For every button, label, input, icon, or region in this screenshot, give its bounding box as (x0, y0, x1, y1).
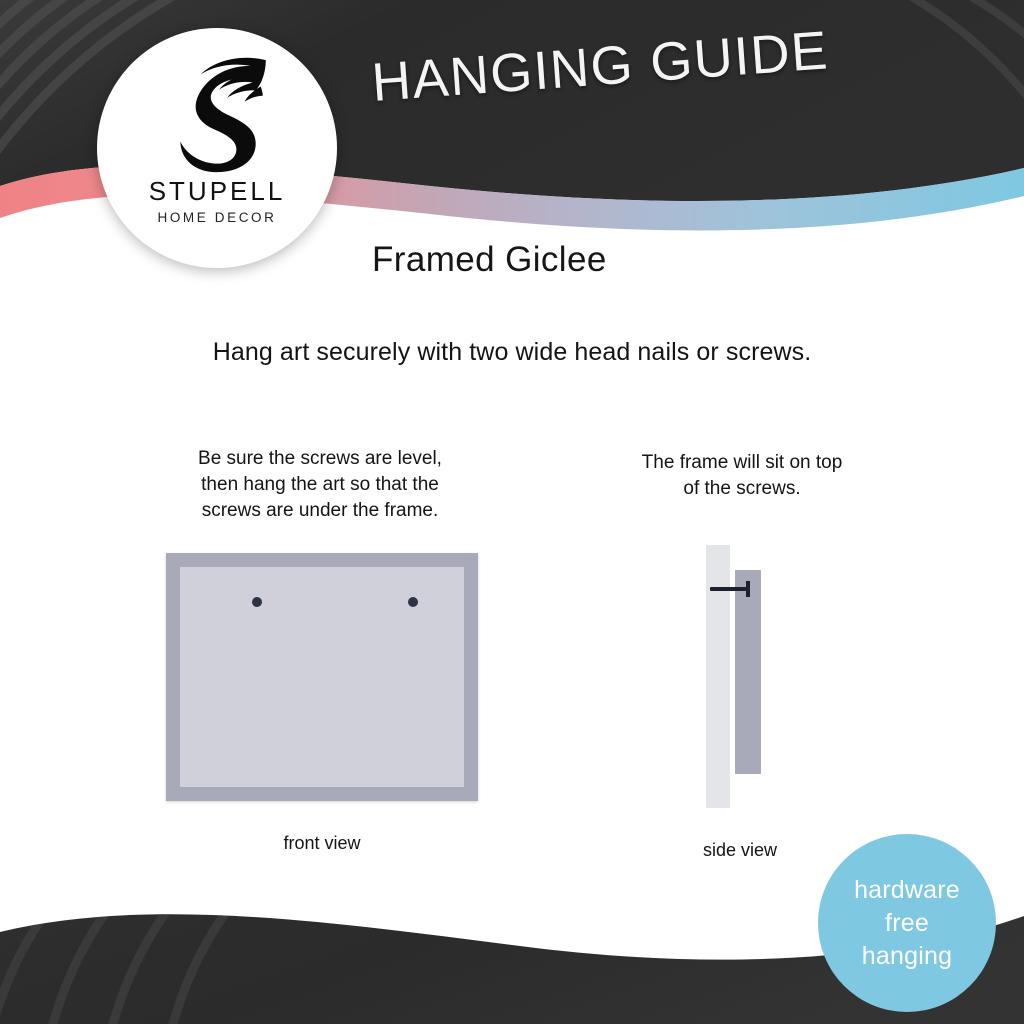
hardware-free-hanging-badge: hardware free hanging (818, 834, 996, 1012)
product-type-heading: Framed Giclee (372, 240, 607, 280)
badge-line-2: free (885, 907, 929, 940)
front-view-caption-line-1: Be sure the screws are level, (155, 446, 485, 472)
front-view-caption-line-3: screws are under the frame. (155, 498, 485, 524)
screw-head-icon-left (252, 597, 262, 607)
front-view-diagram (166, 553, 478, 801)
logo-wordmark: STUPELL (149, 178, 286, 204)
side-view-caption-line-1: The frame will sit on top (592, 450, 892, 476)
side-view-wall (706, 545, 730, 808)
side-view-diagram (706, 545, 776, 808)
front-view-label: front view (166, 833, 478, 854)
front-view-artwork-area (180, 567, 464, 787)
badge-line-3: hanging (862, 940, 952, 973)
side-view-caption: The frame will sit on top of the screws. (592, 450, 892, 502)
side-view-label: side view (640, 840, 840, 861)
side-view-caption-line-2: of the screws. (592, 476, 892, 502)
page-title: HANGING GUIDE (370, 19, 831, 114)
side-view-frame (735, 570, 761, 774)
stupell-swirl-icon (156, 54, 278, 174)
main-instruction-text: Hang art securely with two wide head nai… (0, 338, 1024, 367)
screw-head-icon (746, 581, 750, 597)
front-view-caption: Be sure the screws are level, then hang … (155, 446, 485, 524)
stupell-logo-badge: STUPELL HOME DECOR (97, 28, 337, 268)
hanging-guide-page: STUPELL HOME DECOR HANGING GUIDE Framed … (0, 0, 1024, 1024)
screw-head-icon-right (408, 597, 418, 607)
badge-line-1: hardware (854, 874, 960, 907)
screw-shaft-icon (710, 587, 748, 591)
logo-tagline: HOME DECOR (157, 211, 276, 225)
front-view-caption-line-2: then hang the art so that the (155, 472, 485, 498)
